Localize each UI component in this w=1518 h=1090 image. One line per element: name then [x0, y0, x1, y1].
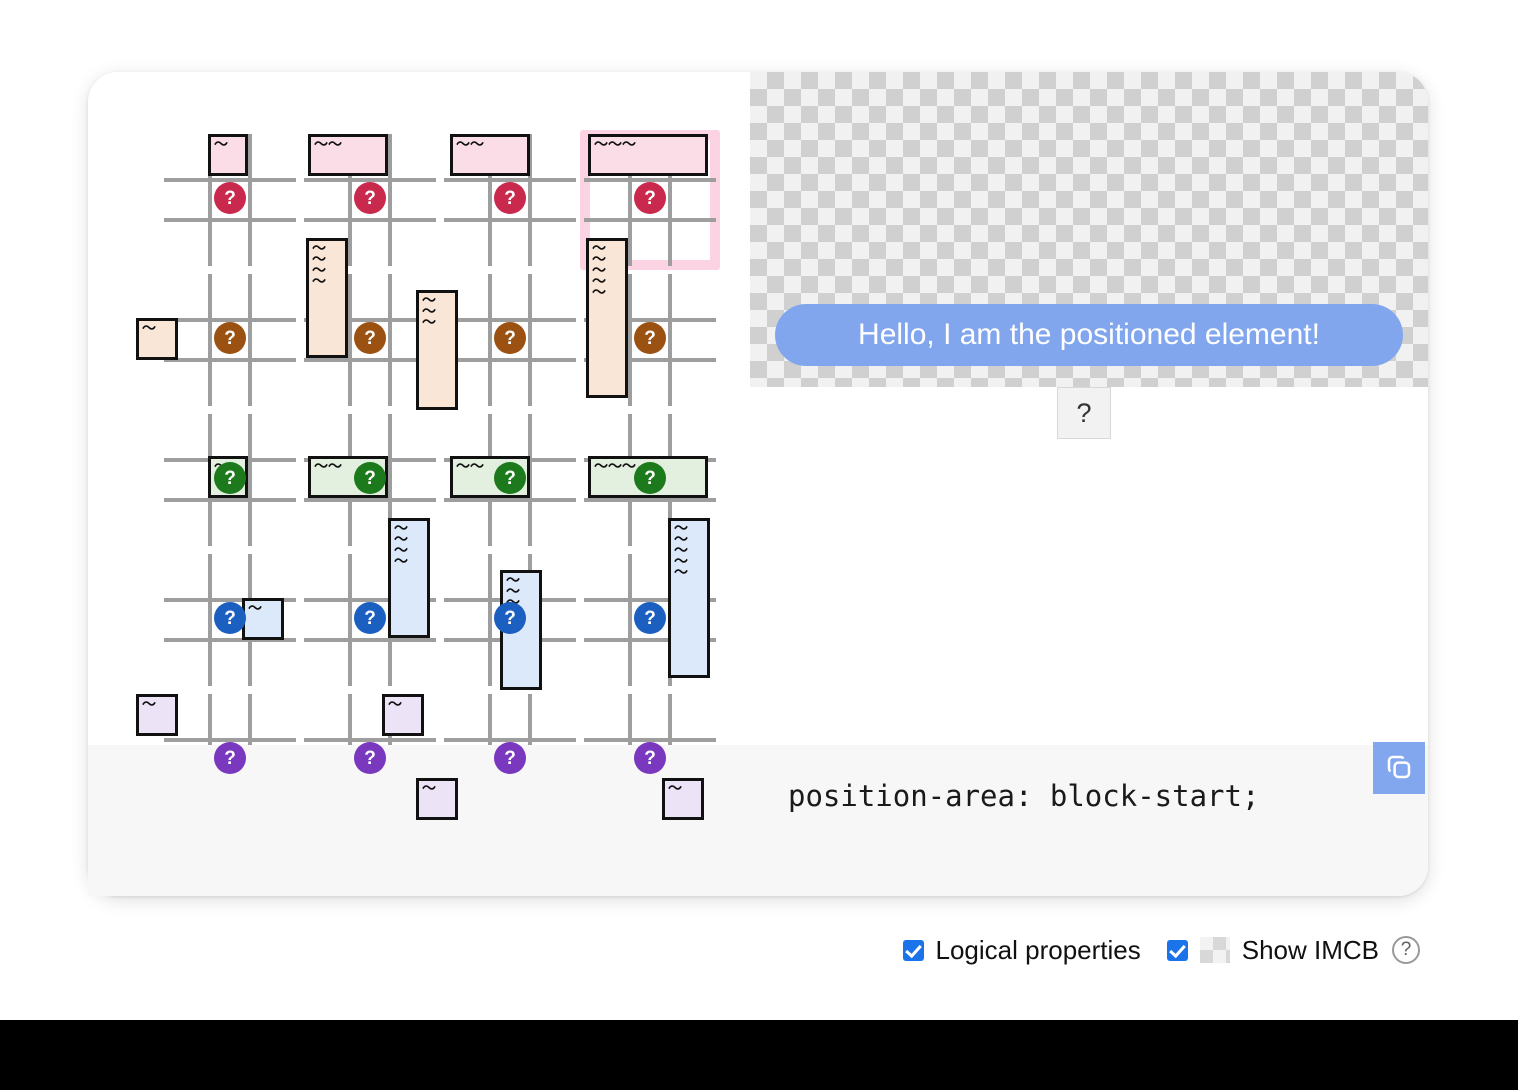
grid-line: [528, 274, 532, 406]
anchor-badge: ?: [494, 742, 526, 774]
positioned-box: 〜: [136, 694, 178, 736]
show-imcb-label: Show IMCB: [1242, 935, 1379, 966]
positioned-box: 〜〜: [308, 134, 388, 176]
grid-line: [668, 274, 672, 406]
imcb-swatch-icon: [1200, 937, 1230, 963]
anchor-badge: ?: [634, 602, 666, 634]
anchor-badge: ?: [354, 602, 386, 634]
position-area-option-block-start-center-wide[interactable]: 〜〜?: [440, 130, 580, 270]
logical-properties-label: Logical properties: [936, 935, 1141, 966]
grid-line: [208, 554, 212, 686]
positioned-box: 〜〜〜〜: [388, 518, 430, 638]
grid-line: [628, 554, 632, 686]
grid-line: [164, 498, 296, 502]
grid-line: [304, 638, 436, 642]
positioned-box: 〜〜〜〜: [306, 238, 348, 358]
grid-line: [488, 554, 492, 686]
anchor-badge: ?: [494, 182, 526, 214]
anchor-badge: ?: [354, 742, 386, 774]
anchor-badge: ?: [634, 182, 666, 214]
grid-line: [208, 274, 212, 406]
position-area-option-inline-end-center-small[interactable]: 〜?: [160, 550, 300, 690]
grid-line: [248, 274, 252, 406]
grid-line: [628, 274, 632, 406]
position-area-option-grid[interactable]: 〜?〜〜?〜〜?〜〜〜?〜?〜〜〜〜?〜〜〜?〜〜〜〜〜?〜?〜〜?〜〜?〜〜〜…: [160, 130, 700, 830]
grid-line: [248, 414, 252, 546]
grid-line: [444, 498, 576, 502]
positioned-element-bubble: Hello, I am the positioned element!: [775, 304, 1403, 366]
bottom-letterbox-band: [0, 1020, 1518, 1090]
help-icon[interactable]: ?: [1392, 936, 1420, 964]
grid-line: [388, 134, 392, 266]
footer-controls: Logical properties Show IMCB ?: [0, 925, 1518, 975]
logical-properties-control[interactable]: Logical properties: [903, 935, 1141, 966]
grid-line: [348, 274, 352, 406]
anchor-badge: ?: [214, 182, 246, 214]
grid-line: [444, 358, 576, 362]
position-area-option-inline-start-center-small[interactable]: 〜?: [160, 270, 300, 410]
show-imcb-checkbox[interactable]: [1167, 940, 1188, 961]
grid-line: [488, 274, 492, 406]
anchor-badge: ?: [494, 322, 526, 354]
anchor-badge: ?: [634, 742, 666, 774]
position-area-option-block-end-center-small[interactable]: 〜?: [160, 410, 300, 550]
grid-line: [444, 218, 576, 222]
code-block: position-area: block-start;: [88, 745, 1428, 896]
anchor-badge: ?: [214, 602, 246, 634]
anchor-badge: ?: [214, 462, 246, 494]
anchor-badge: ?: [494, 602, 526, 634]
grid-line: [388, 274, 392, 406]
position-area-option-block-start-center-small[interactable]: 〜?: [160, 130, 300, 270]
positioned-box: 〜: [242, 598, 284, 640]
position-area-option-inline-end-center-full[interactable]: 〜〜〜〜〜?: [580, 550, 720, 690]
anchor-badge: ?: [214, 322, 246, 354]
positioned-box: 〜: [662, 778, 704, 820]
positioned-box: 〜: [416, 778, 458, 820]
grid-line: [164, 358, 296, 362]
anchor-badge: ?: [354, 462, 386, 494]
position-area-option-inline-start-center-tall2[interactable]: 〜〜〜?: [440, 270, 580, 410]
anchor-badge: ?: [634, 322, 666, 354]
positioned-box: 〜〜〜: [588, 134, 708, 176]
copy-icon: [1384, 752, 1414, 785]
position-area-option-inline-end-center-tall[interactable]: 〜〜〜〜?: [300, 550, 440, 690]
anchor-badge: ?: [494, 462, 526, 494]
grid-line: [164, 218, 296, 222]
position-area-option-inline-end-center-tall2[interactable]: 〜〜〜?: [440, 550, 580, 690]
grid-line: [304, 498, 436, 502]
anchor-badge: ?: [214, 742, 246, 774]
positioned-box: 〜: [382, 694, 424, 736]
positioned-box: 〜: [136, 318, 178, 360]
positioned-box: 〜: [208, 134, 248, 176]
anchor-badge: ?: [634, 462, 666, 494]
logical-properties-checkbox[interactable]: [903, 940, 924, 961]
grid-line: [584, 218, 716, 222]
position-area-option-block-end-center-wide[interactable]: 〜〜?: [440, 410, 580, 550]
grid-line: [304, 218, 436, 222]
positioned-box: 〜〜〜〜〜: [586, 238, 628, 398]
position-area-option-inline-start-center-full[interactable]: 〜〜〜〜〜?: [580, 270, 720, 410]
grid-line: [248, 134, 252, 266]
positioned-box: 〜〜〜: [416, 290, 458, 410]
grid-line: [348, 554, 352, 686]
grid-line: [584, 498, 716, 502]
anchor-badge: ?: [354, 322, 386, 354]
copy-button[interactable]: [1373, 742, 1425, 794]
anchor-badge: ?: [354, 182, 386, 214]
show-imcb-control[interactable]: Show IMCB: [1167, 935, 1379, 966]
anchor-element-chip: ?: [1057, 387, 1111, 439]
positioned-box: 〜〜: [450, 134, 530, 176]
css-declaration-text: position-area: block-start;: [788, 779, 1259, 813]
positioned-box: 〜〜〜〜〜: [668, 518, 710, 678]
